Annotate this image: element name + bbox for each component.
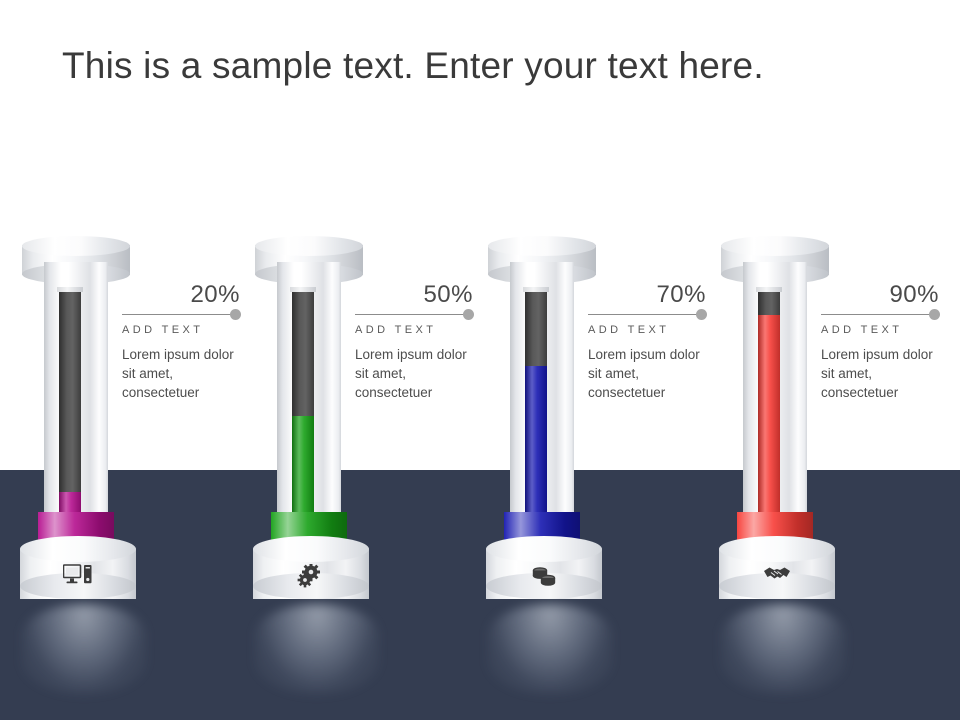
divider-rule [355, 309, 483, 321]
gauge-column-4[interactable]: 90% ADD TEXT Lorem ipsum dolor sit amet,… [699, 0, 939, 720]
percent-label: 70% [588, 282, 716, 308]
base-reflection [255, 604, 379, 694]
gears-icon [253, 564, 369, 593]
description-text: Lorem ipsum dolor sit amet, consectetuer [355, 345, 483, 402]
coins-icon [486, 564, 602, 593]
divider-rule [122, 309, 250, 321]
info-block: 70% ADD TEXT Lorem ipsum dolor sit amet,… [588, 282, 716, 402]
subtitle-label: ADD TEXT [355, 324, 483, 336]
gauge-base [253, 536, 369, 612]
gauge-fill [758, 315, 780, 542]
percent-label: 50% [355, 282, 483, 308]
info-block: 90% ADD TEXT Lorem ipsum dolor sit amet,… [821, 282, 949, 402]
gauge-column-3[interactable]: 70% ADD TEXT Lorem ipsum dolor sit amet,… [466, 0, 706, 720]
gauge-base [486, 536, 602, 612]
gauge-column-2[interactable]: 50% ADD TEXT Lorem ipsum dolor sit amet,… [233, 0, 473, 720]
gauge-tube [510, 262, 574, 542]
info-block: 50% ADD TEXT Lorem ipsum dolor sit amet,… [355, 282, 483, 402]
rule-dot-icon [929, 309, 940, 320]
desktop-computer-icon [20, 564, 136, 591]
info-block: 20% ADD TEXT Lorem ipsum dolor sit amet,… [122, 282, 250, 402]
description-text: Lorem ipsum dolor sit amet, consectetuer [588, 345, 716, 402]
subtitle-label: ADD TEXT [588, 324, 716, 336]
base-reflection [721, 604, 845, 694]
slide-canvas: This is a sample text. Enter your text h… [0, 0, 960, 720]
description-text: Lorem ipsum dolor sit amet, consectetuer [821, 345, 949, 402]
description-text: Lorem ipsum dolor sit amet, consectetuer [122, 345, 250, 402]
gauge-tube [743, 262, 807, 542]
percent-label: 20% [122, 282, 250, 308]
percent-label: 90% [821, 282, 949, 308]
gauge-base [719, 536, 835, 612]
divider-rule [588, 309, 716, 321]
subtitle-label: ADD TEXT [821, 324, 949, 336]
subtitle-label: ADD TEXT [122, 324, 250, 336]
gauge-base [20, 536, 136, 612]
base-reflection [22, 604, 146, 694]
divider-rule [821, 309, 949, 321]
handshake-icon [719, 564, 835, 589]
gauge-column-1[interactable]: 20% ADD TEXT Lorem ipsum dolor sit amet,… [0, 0, 240, 720]
gauge-tube [44, 262, 108, 542]
gauge-tube [277, 262, 341, 542]
base-reflection [488, 604, 612, 694]
